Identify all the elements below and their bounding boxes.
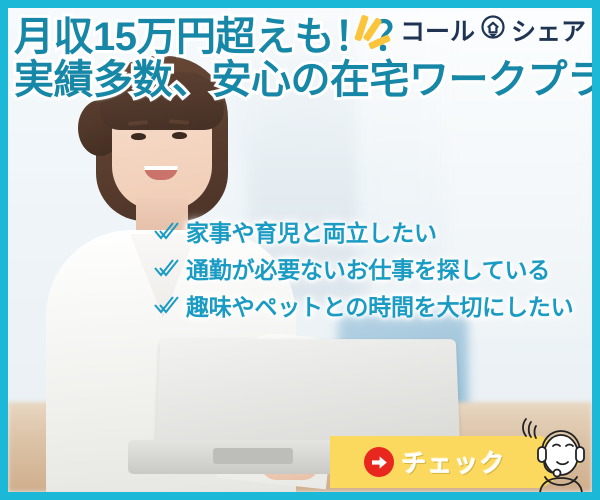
banner-stage: コール シェア 月収15万円超えも！？ 実績多数、安心の在宅ワークプラン — [8, 8, 592, 492]
woman-eye-right — [172, 132, 187, 139]
woman-eye-left — [131, 133, 146, 140]
checklist-item: 趣味やペットとの時間を大切にしたい — [154, 288, 573, 322]
checklist-item-label: 家事や育児と両立したい — [186, 214, 437, 248]
house-pin-icon — [478, 14, 508, 46]
checklist-item-label: 趣味やペットとの時間を大切にしたい — [186, 288, 573, 322]
photo-laptop-screen — [156, 339, 460, 450]
benefit-checklist: 家事や育児と両立したい 通勤が必要ないお仕事を探している 趣味やペットとの時間を… — [154, 214, 573, 322]
cta-label: チェック — [401, 444, 505, 480]
cta-content: チェック — [330, 436, 540, 488]
brand-name-part-2: シェア — [511, 12, 586, 48]
cta-button[interactable]: チェック — [330, 436, 592, 492]
double-check-icon — [154, 220, 180, 242]
photo-laptop-trackpad — [213, 448, 293, 464]
brand-name-part-1: コール — [400, 12, 475, 48]
checklist-item: 通勤が必要ないお仕事を探している — [154, 251, 573, 285]
sparkle-rays-icon — [354, 13, 394, 47]
arrow-right-glyph — [371, 455, 388, 470]
double-check-icon — [154, 257, 180, 279]
double-check-icon — [154, 294, 180, 316]
headline-line-2: 実績多数、安心の在宅ワークプラン — [14, 59, 586, 102]
checklist-item: 家事や育児と両立したい — [154, 214, 573, 248]
arrow-right-icon — [364, 447, 394, 477]
headset-operator-icon — [512, 414, 592, 492]
advertisement-banner: コール シェア 月収15万円超えも！？ 実績多数、安心の在宅ワークプラン — [0, 0, 600, 500]
brand-logo-text: コール シェア — [400, 12, 586, 48]
checklist-item-label: 通勤が必要ないお仕事を探している — [186, 251, 550, 285]
brand-logo[interactable]: コール シェア — [354, 12, 586, 48]
